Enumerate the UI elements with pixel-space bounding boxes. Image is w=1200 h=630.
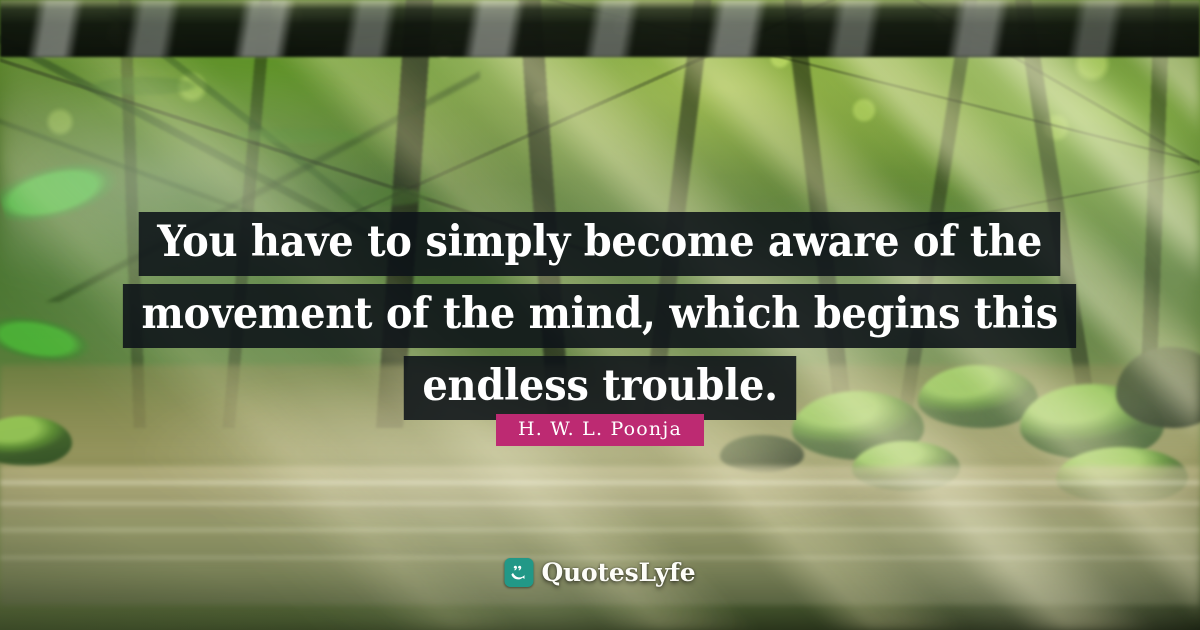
quoteslyfe-logo[interactable]: QuotesLyfe xyxy=(504,558,695,587)
logo-wordmark: QuotesLyfe xyxy=(541,558,695,587)
quote-line-2: movement of the mind, which begins this xyxy=(123,284,1077,348)
author-name-badge: H. W. L. Poonja xyxy=(496,414,704,446)
quote-line-3: endless trouble. xyxy=(404,356,797,420)
quote-smiley-icon xyxy=(504,558,533,587)
quote-text-block: You have to simply become aware of the m… xyxy=(0,212,1200,420)
quote-line-1: You have to simply become aware of the xyxy=(139,212,1061,276)
quote-image-card: You have to simply become aware of the m… xyxy=(0,0,1200,630)
